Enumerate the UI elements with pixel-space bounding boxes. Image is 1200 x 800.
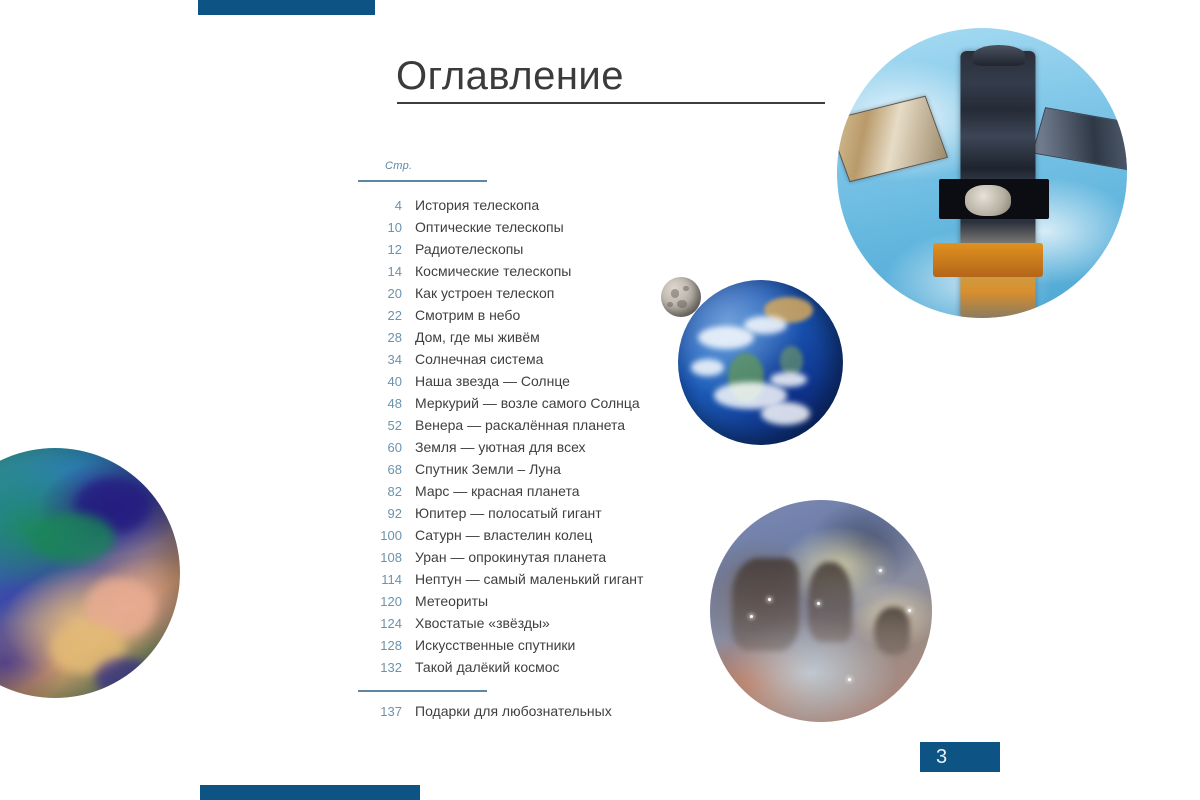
earth-photo: [678, 280, 843, 445]
hubble-solar-panel-left: [837, 96, 948, 182]
toc-entry-page-number: 28: [358, 330, 402, 345]
toc-entry-label: Хвостатые «звёзды»: [415, 615, 550, 631]
toc-entry[interactable]: 34Солнечная система: [358, 351, 678, 373]
toc-column-header: Стр.: [358, 160, 678, 172]
toc-entry[interactable]: 100Сатурн — властелин колец: [358, 527, 678, 549]
toc-entry-page-number: 128: [358, 638, 402, 653]
toc-entry-label: Спутник Земли – Луна: [415, 461, 561, 477]
toc-entry[interactable]: 120Метеориты: [358, 593, 678, 615]
toc-entry-page-number: 92: [358, 506, 402, 521]
toc-entry-label: Смотрим в небо: [415, 307, 520, 323]
nebula-dust-pillar: [732, 558, 799, 651]
toc-entry[interactable]: 92Юпитер — полосатый гигант: [358, 505, 678, 527]
toc-entry-page-number: 108: [358, 550, 402, 565]
toc-entry-page-number: 10: [358, 220, 402, 235]
toc-entry-label: Как устроен телескоп: [415, 285, 554, 301]
toc-entry-label: Радиотелескопы: [415, 241, 523, 257]
page-number-badge: 3: [920, 742, 1000, 772]
moon-crater: [667, 302, 672, 307]
moon-crater: [677, 300, 687, 308]
toc-entry-page-number: 14: [358, 264, 402, 279]
toc-entry[interactable]: 60Земля — уютная для всех: [358, 439, 678, 461]
toc-entry-label: Уран — опрокинутая планета: [415, 549, 606, 565]
toc-entry-page-number: 20: [358, 286, 402, 301]
toc-entry[interactable]: 114Нептун — самый маленький гигант: [358, 571, 678, 593]
nebula-star: [879, 569, 882, 572]
earth-cloud: [761, 402, 811, 425]
toc-footer-divider: [358, 690, 487, 692]
earth-cloud: [698, 326, 754, 349]
toc-entry-label: Нептун — самый маленький гигант: [415, 571, 643, 587]
earth-cloud: [691, 359, 724, 376]
hubble-payload-bay: [933, 243, 1043, 278]
toc-entry-label: Меркурий — возле самого Солнца: [415, 395, 640, 411]
toc-entry[interactable]: 124Хвостатые «звёзды»: [358, 615, 678, 637]
hubble-aperture-cap: [973, 45, 1025, 65]
toc-entry-page-number: 124: [358, 616, 402, 631]
toc-entry[interactable]: 12Радиотелескопы: [358, 241, 678, 263]
toc-entry-page-number: 4: [358, 198, 402, 213]
moon-crater: [683, 286, 689, 292]
toc-entry[interactable]: 108Уран — опрокинутая планета: [358, 549, 678, 571]
nebula-star: [768, 598, 771, 601]
toc-entry[interactable]: 22Смотрим в небо: [358, 307, 678, 329]
toc-entry-label: Юпитер — полосатый гигант: [415, 505, 602, 521]
toc-entry-page-number: 137: [358, 704, 402, 719]
toc-entry-label: Искусственные спутники: [415, 637, 575, 653]
toc-entry-page-number: 48: [358, 396, 402, 411]
toc-entry[interactable]: 82Марс — красная планета: [358, 483, 678, 505]
book-contents-page: Оглавление Стр. 4История телескопа10Опти…: [0, 0, 1200, 800]
carina-nebula-photo: [710, 500, 932, 722]
moon-crater: [671, 289, 680, 298]
toc-entry-page-number: 100: [358, 528, 402, 543]
toc-entry[interactable]: 4История телескопа: [358, 197, 678, 219]
toc-entry-label: Такой далёкий космос: [415, 659, 560, 675]
toc-entry-label: Наша звезда — Солнце: [415, 373, 570, 389]
table-of-contents: Стр. 4История телескопа10Оптические теле…: [358, 160, 678, 725]
toc-entry-list: 4История телескопа10Оптические телескопы…: [358, 197, 678, 681]
toc-entry-page-number: 120: [358, 594, 402, 609]
earth-cloud: [744, 316, 787, 334]
hubble-space-telescope-photo: [837, 28, 1127, 318]
venus-radar-map-photo: [0, 448, 180, 698]
toc-entry-label: Сатурн — властелин колец: [415, 527, 592, 543]
venus-surface-region: [30, 513, 115, 563]
toc-entry[interactable]: 128Искусственные спутники: [358, 637, 678, 659]
toc-entry[interactable]: 20Как устроен телескоп: [358, 285, 678, 307]
bottom-decorative-bar: [200, 785, 420, 800]
toc-entry-label: Солнечная система: [415, 351, 543, 367]
top-decorative-bar: [198, 0, 375, 15]
toc-entry[interactable]: 48Меркурий — возле самого Солнца: [358, 395, 678, 417]
toc-entry[interactable]: 14Космические телескопы: [358, 263, 678, 285]
nebula-star: [908, 609, 911, 612]
toc-appendix-list: 137Подарки для любознательных: [358, 703, 678, 725]
hubble-solar-panel-right: [1032, 107, 1127, 171]
page-number-value: 3: [936, 746, 947, 769]
toc-entry[interactable]: 52Венера — раскалённая планета: [358, 417, 678, 439]
nebula-dust-pillar: [874, 607, 910, 656]
toc-entry-page-number: 40: [358, 374, 402, 389]
toc-entry-page-number: 34: [358, 352, 402, 367]
title-underline: [397, 102, 825, 104]
toc-entry-page-number: 68: [358, 462, 402, 477]
toc-entry-label: Дом, где мы живём: [415, 329, 540, 345]
toc-entry-label: Подарки для любознательных: [415, 703, 612, 719]
toc-entry-page-number: 114: [358, 572, 402, 587]
toc-entry[interactable]: 68Спутник Земли – Луна: [358, 461, 678, 483]
venus-surface-region: [95, 658, 155, 698]
toc-entry-label: Земля — уютная для всех: [415, 439, 586, 455]
toc-entry-page-number: 60: [358, 440, 402, 455]
earth-landmass: [780, 346, 803, 376]
toc-entry-page-number: 132: [358, 660, 402, 675]
nebula-dust-pillar: [808, 562, 852, 642]
toc-entry[interactable]: 137Подарки для любознательных: [358, 703, 678, 725]
toc-entry-label: Метеориты: [415, 593, 488, 609]
toc-entry[interactable]: 132Такой далёкий космос: [358, 659, 678, 681]
toc-entry[interactable]: 10Оптические телескопы: [358, 219, 678, 241]
nebula-star: [817, 602, 820, 605]
nebula-star: [848, 678, 851, 681]
earth-cloud: [770, 372, 806, 387]
toc-entry[interactable]: 40Наша звезда — Солнце: [358, 373, 678, 395]
toc-entry-page-number: 12: [358, 242, 402, 257]
toc-entry-label: История телескопа: [415, 197, 539, 213]
toc-entry-label: Оптические телескопы: [415, 219, 564, 235]
toc-header-divider: [358, 180, 487, 182]
toc-entry-page-number: 52: [358, 418, 402, 433]
toc-entry-label: Марс — красная планета: [415, 483, 580, 499]
toc-entry[interactable]: 28Дом, где мы живём: [358, 329, 678, 351]
page-title: Оглавление: [396, 56, 624, 96]
toc-entry-label: Венера — раскалённая планета: [415, 417, 625, 433]
toc-entry-page-number: 22: [358, 308, 402, 323]
hubble-astronaut: [965, 185, 1011, 217]
toc-entry-label: Космические телескопы: [415, 263, 571, 279]
toc-entry-page-number: 82: [358, 484, 402, 499]
